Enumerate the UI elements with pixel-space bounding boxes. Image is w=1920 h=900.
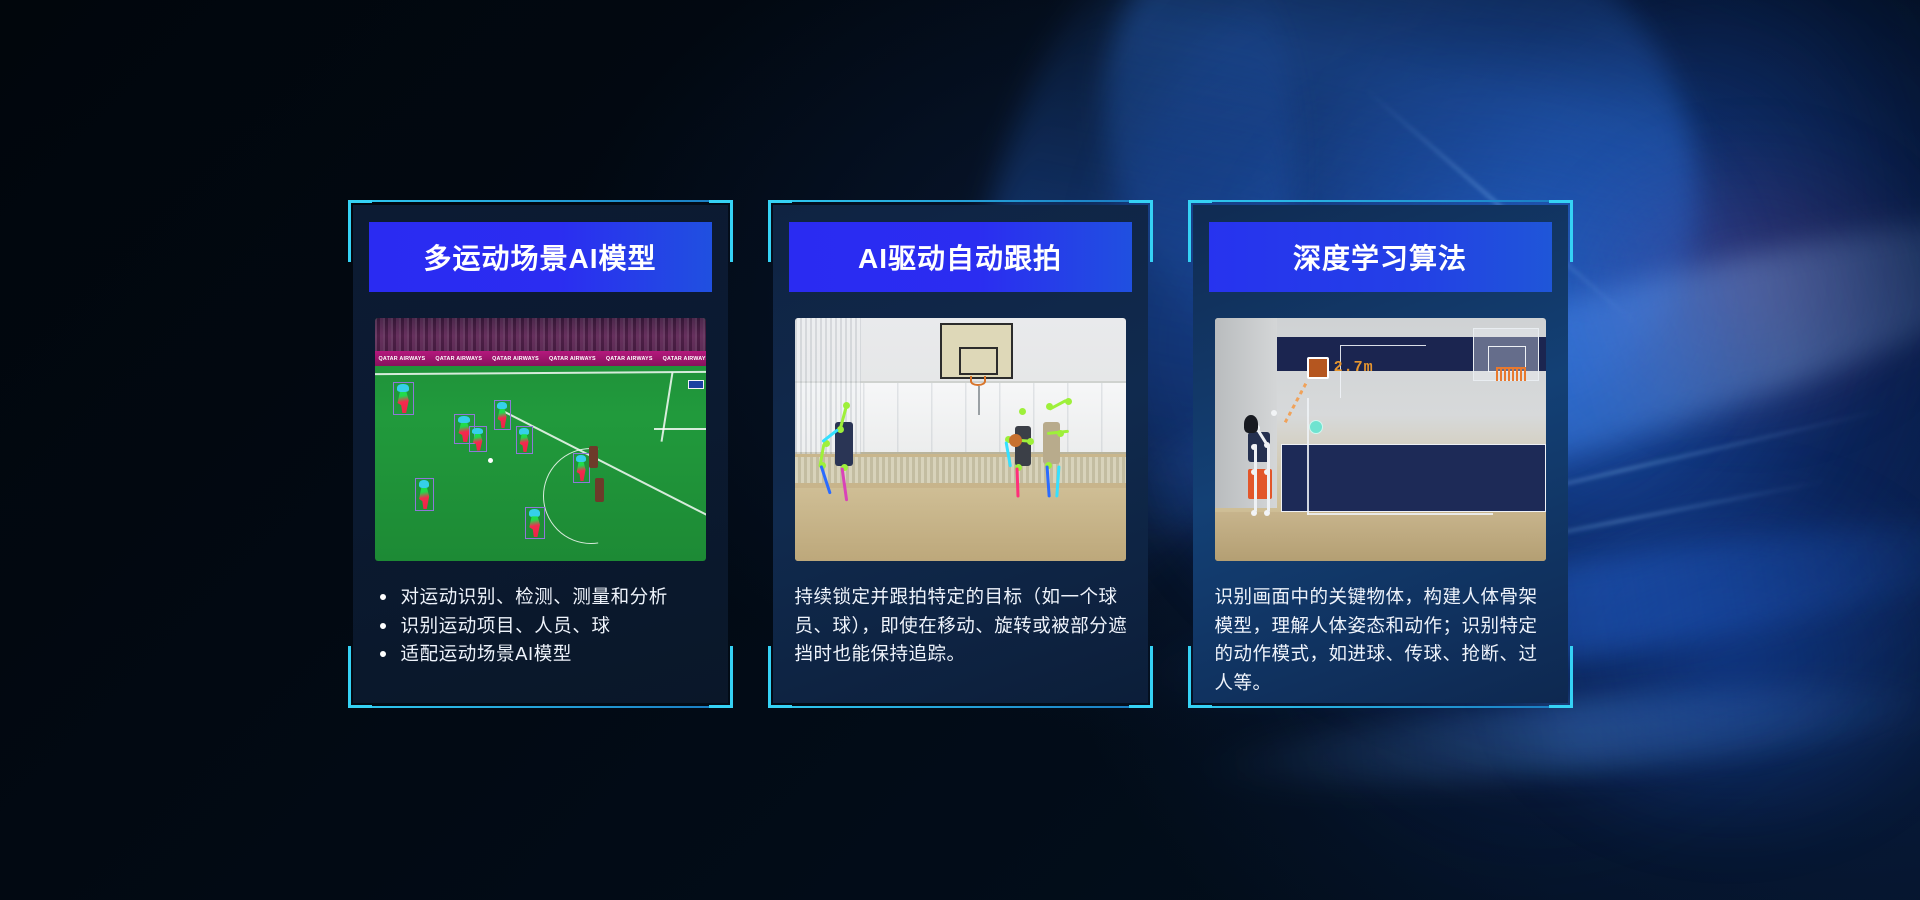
feature-card-multi-sport-ai-model[interactable]: 多运动场景AI模型 QATAR AIRWAYS QATAR AIRWAYS QA… <box>348 200 733 708</box>
card-top-edge-line <box>1210 200 1551 202</box>
bracket-top-right-h <box>709 200 733 203</box>
detection-box <box>525 507 545 539</box>
sponsor-text: QATAR AIRWAYS <box>379 356 426 362</box>
bracket-bottom-right-h <box>1129 705 1153 708</box>
card-body: 持续锁定并跟拍特定的目标（如一个球员、球），即使在移动、旋转或被部分遮挡时也能保… <box>795 583 1130 669</box>
card-title: 多运动场景AI模型 <box>369 222 712 292</box>
bracket-top-right-h <box>1549 200 1573 203</box>
basketball-net <box>1496 367 1526 382</box>
card-title: AI驱动自动跟拍 <box>789 222 1132 292</box>
detection-box <box>573 453 590 483</box>
feature-card-ai-auto-tracking[interactable]: AI驱动自动跟拍 <box>768 200 1153 708</box>
bracket-bottom-right-v <box>1150 646 1153 708</box>
bracket-bottom-right-h <box>1549 705 1573 708</box>
pitch-ad-board <box>688 380 704 389</box>
bracket-top-right-v <box>1150 200 1153 262</box>
card-thumbnail-soccer-detection: QATAR AIRWAYS QATAR AIRWAYS QATAR AIRWAY… <box>375 318 706 561</box>
bracket-bottom-left-v <box>1188 646 1191 708</box>
detection-box <box>516 426 533 454</box>
list-item: 适配运动场景AI模型 <box>375 640 710 669</box>
card-bottom-edge-line <box>1210 706 1551 708</box>
card-top-edge-line <box>790 200 1131 202</box>
detection-box <box>393 382 414 415</box>
sponsor-banner: QATAR AIRWAYS QATAR AIRWAYS QATAR AIRWAY… <box>375 351 706 366</box>
bracket-bottom-left-h <box>348 705 372 708</box>
sponsor-text: QATAR AIRWAYS <box>549 356 596 362</box>
bracket-top-left-h <box>348 200 372 203</box>
sponsor-text: QATAR AIRWAYS <box>606 356 653 362</box>
hoop-post <box>978 386 980 415</box>
card-description: 持续锁定并跟拍特定的目标（如一个球员、球），即使在移动、旋转或被部分遮挡时也能保… <box>795 583 1130 669</box>
opponent-player <box>595 478 604 502</box>
bracket-bottom-right-h <box>709 705 733 708</box>
bracket-top-left-v <box>348 200 351 262</box>
card-body: 对运动识别、检测、测量和分析 识别运动项目、人员、球 适配运动场景AI模型 <box>375 583 710 669</box>
bone-spine-right <box>1267 444 1270 512</box>
list-item: 识别运动项目、人员、球 <box>375 612 710 641</box>
bracket-top-left-v <box>1188 200 1191 262</box>
basketball-in-play <box>1009 434 1022 447</box>
bracket-top-left-v <box>768 200 771 262</box>
card-bottom-edge-line <box>790 706 1131 708</box>
ball-detection-box <box>1307 357 1329 379</box>
card-thumbnail-shot-tracking: 2.7m <box>1215 318 1546 561</box>
card-bottom-edge-line <box>370 706 711 708</box>
card-title: 深度学习算法 <box>1209 222 1552 292</box>
basketball-backboard <box>940 323 1013 379</box>
bracket-bottom-left-v <box>348 646 351 708</box>
soccer-ball <box>488 458 493 463</box>
detection-box <box>415 478 434 511</box>
bone-spine-left <box>1254 444 1257 512</box>
sponsor-text: QATAR AIRWAYS <box>435 356 482 362</box>
card-thumbnail-pose-estimation <box>795 318 1126 561</box>
bone-leg <box>1015 467 1019 497</box>
pitch-penalty-box-line <box>654 428 706 430</box>
feature-card-deep-learning-algorithm[interactable]: 深度学习算法 2.7m <box>1188 200 1573 708</box>
bracket-bottom-left-h <box>1188 705 1212 708</box>
bracket-bottom-right-v <box>730 646 733 708</box>
card-panel: 多运动场景AI模型 QATAR AIRWAYS QATAR AIRWAYS QA… <box>353 205 728 703</box>
bracket-bottom-left-h <box>768 705 792 708</box>
list-item: 对运动识别、检测、测量和分析 <box>375 583 710 612</box>
detection-box <box>494 400 511 430</box>
measure-vertical-line <box>1307 398 1309 515</box>
opponent-player <box>589 446 598 468</box>
detection-box <box>469 426 487 452</box>
joint-head <box>1019 408 1026 415</box>
player-torso <box>1043 422 1060 464</box>
card-description: 识别画面中的关键物体，构建人体骨架模型，理解人体姿态和动作；识别特定的动作模式，… <box>1215 583 1550 698</box>
sponsor-text: QATAR AIRWAYS <box>663 356 706 362</box>
feature-card-row: 多运动场景AI模型 QATAR AIRWAYS QATAR AIRWAYS QA… <box>0 0 1920 900</box>
bracket-top-left-h <box>768 200 792 203</box>
card-panel: 深度学习算法 2.7m <box>1193 205 1568 703</box>
height-annotation: 2.7m <box>1334 359 1374 376</box>
bracket-bottom-left-v <box>768 646 771 708</box>
court-floor <box>1215 512 1546 561</box>
card-body: 识别画面中的关键物体，构建人体骨架模型，理解人体姿态和动作；识别特定的动作模式，… <box>1215 583 1550 698</box>
tracking-marker <box>1309 420 1323 434</box>
card-panel: AI驱动自动跟拍 <box>773 205 1148 703</box>
card-top-edge-line <box>370 200 711 202</box>
wall-pad-lower <box>1281 444 1546 512</box>
feature-bullet-list: 对运动识别、检测、测量和分析 识别运动项目、人员、球 适配运动场景AI模型 <box>375 583 710 669</box>
bracket-bottom-right-v <box>1570 646 1573 708</box>
bracket-top-right-v <box>730 200 733 262</box>
sponsor-text: QATAR AIRWAYS <box>492 356 539 362</box>
bracket-top-right-v <box>1570 200 1573 262</box>
shooter-head <box>1244 415 1258 433</box>
measure-horizontal-line <box>1307 513 1492 515</box>
bracket-top-left-h <box>1188 200 1212 203</box>
bracket-top-right-h <box>1129 200 1153 203</box>
